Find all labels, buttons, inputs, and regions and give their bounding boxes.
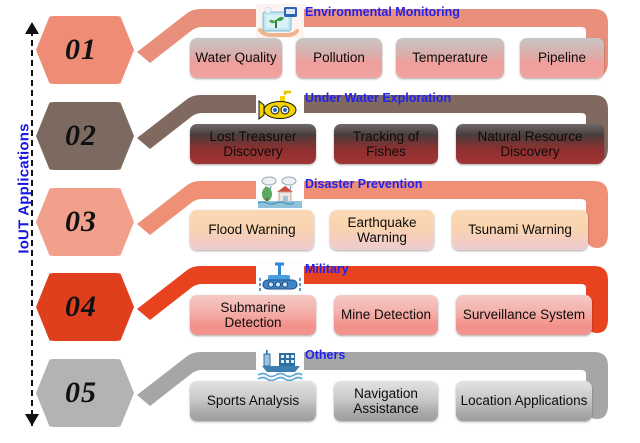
tablet-plant-icon bbox=[255, 3, 305, 39]
application-chip-group: Flood Warning Earthquake Warning Tsunami… bbox=[190, 210, 590, 252]
row-number-badge: 05 bbox=[36, 359, 134, 427]
row-number: 04 bbox=[65, 290, 105, 324]
application-chip-group: Water Quality Pollution Temperature Pipe… bbox=[190, 38, 590, 80]
application-chip[interactable]: Pipeline bbox=[520, 38, 604, 78]
row-number: 03 bbox=[65, 205, 105, 239]
flood-house-icon bbox=[255, 175, 305, 211]
application-row: 03 Disaster Prevention Flood Warning Ear… bbox=[0, 172, 640, 258]
application-row: 04 Military Submarine Detection Mine Det… bbox=[0, 257, 640, 343]
application-chip[interactable]: Navigation Assistance bbox=[334, 381, 438, 421]
row-title: Under Water Exploration bbox=[305, 91, 451, 105]
application-chip-group: Lost Treasurer Discovery Tracking of Fis… bbox=[190, 124, 590, 166]
blue-submarine-icon bbox=[255, 260, 305, 296]
row-title: Others bbox=[305, 348, 345, 362]
row-number-badge: 03 bbox=[36, 188, 134, 256]
row-number-badge: 02 bbox=[36, 102, 134, 170]
row-title: Military bbox=[305, 262, 349, 276]
application-chip[interactable]: Natural Resource Discovery bbox=[456, 124, 604, 164]
row-title: Disaster Prevention bbox=[305, 177, 422, 191]
application-chip[interactable]: Tsunami Warning bbox=[452, 210, 588, 250]
application-chip[interactable]: Earthquake Warning bbox=[330, 210, 434, 250]
application-row: 02 Under Water Exploration Lost Treasure… bbox=[0, 86, 640, 172]
application-chip[interactable]: Water Quality bbox=[190, 38, 282, 78]
application-chip[interactable]: Lost Treasurer Discovery bbox=[190, 124, 316, 164]
row-number-badge: 04 bbox=[36, 273, 134, 341]
application-chip[interactable]: Sports Analysis bbox=[190, 381, 316, 421]
application-chip[interactable]: Flood Warning bbox=[190, 210, 314, 250]
application-chip-group: Submarine Detection Mine Detection Surve… bbox=[190, 295, 590, 337]
application-chip[interactable]: Mine Detection bbox=[334, 295, 438, 335]
yellow-submarine-icon bbox=[255, 89, 305, 125]
row-number: 01 bbox=[65, 33, 105, 67]
iout-applications-diagram: IoUT Applications 01 Environmental Monit… bbox=[0, 0, 640, 443]
application-row: 01 Environmental Monitoring Water Qualit… bbox=[0, 0, 640, 86]
application-chip[interactable]: Location Applications bbox=[456, 381, 592, 421]
application-chip[interactable]: Pollution bbox=[296, 38, 382, 78]
row-title: Environmental Monitoring bbox=[305, 5, 460, 19]
application-chip-group: Sports Analysis Navigation Assistance Lo… bbox=[190, 381, 590, 423]
application-chip[interactable]: Temperature bbox=[396, 38, 504, 78]
application-chip[interactable]: Submarine Detection bbox=[190, 295, 316, 335]
application-row: 05 Others Sports Analysis Navigation Ass… bbox=[0, 343, 640, 429]
application-chip[interactable]: Surveillance System bbox=[456, 295, 592, 335]
row-number: 05 bbox=[65, 376, 105, 410]
row-number-badge: 01 bbox=[36, 16, 134, 84]
ship-icon bbox=[255, 346, 305, 382]
row-number: 02 bbox=[65, 119, 105, 153]
application-chip[interactable]: Tracking of Fishes bbox=[334, 124, 438, 164]
